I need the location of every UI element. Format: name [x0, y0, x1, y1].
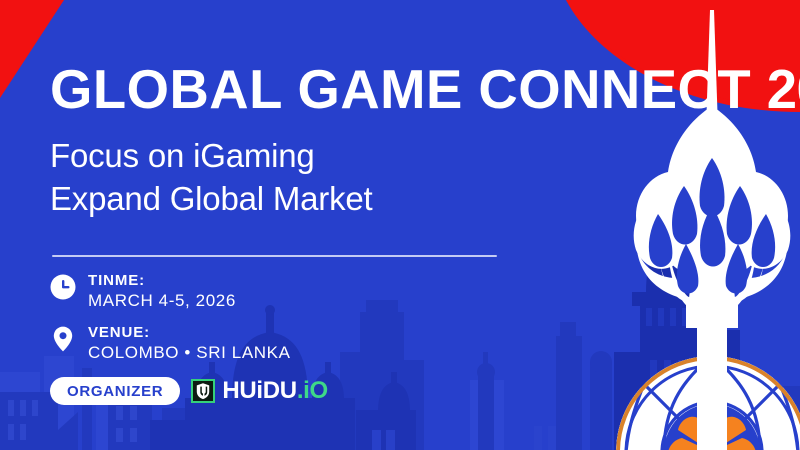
organizer-badge: ORGANIZER: [50, 377, 180, 405]
organizer-strip: ORGANIZER HUiDU.iO: [50, 376, 328, 406]
huidu-wordmark: HUiDU.iO: [222, 379, 328, 403]
subtitle: Focus on iGaming Expand Global Market: [50, 134, 610, 220]
divider: [52, 255, 497, 257]
subtitle-line-1: Focus on iGaming: [50, 134, 610, 177]
event-banner: GLOBAL GAME CONNECT 2026 Focus on iGamin…: [0, 0, 800, 450]
event-time-label: TINME:: [88, 272, 236, 289]
event-time-row: TINME: MARCH 4-5, 2026: [50, 272, 236, 311]
location-pin-icon: [50, 326, 76, 352]
event-time-value: MARCH 4-5, 2026: [88, 290, 236, 311]
huidu-brand[interactable]: HUiDU.iO: [191, 379, 328, 403]
clock-icon: [50, 274, 76, 300]
event-venue-row: VENUE: COLOMBO • SRI LANKA: [50, 324, 291, 363]
huidu-shield-logo-icon: [191, 379, 215, 403]
organizer-badge-label: ORGANIZER: [67, 383, 163, 400]
title-main: GLOBAL GAME CONNECT: [50, 58, 751, 120]
event-venue-label: VENUE:: [88, 324, 291, 341]
brand-name: HUiDU: [222, 377, 297, 404]
event-venue-value: COLOMBO • SRI LANKA: [88, 342, 291, 363]
brand-tld: .iO: [297, 377, 328, 404]
page-title: GLOBAL GAME CONNECT 2026: [50, 58, 703, 120]
subtitle-line-2: Expand Global Market: [50, 177, 610, 220]
title-year: 2026: [767, 58, 800, 120]
